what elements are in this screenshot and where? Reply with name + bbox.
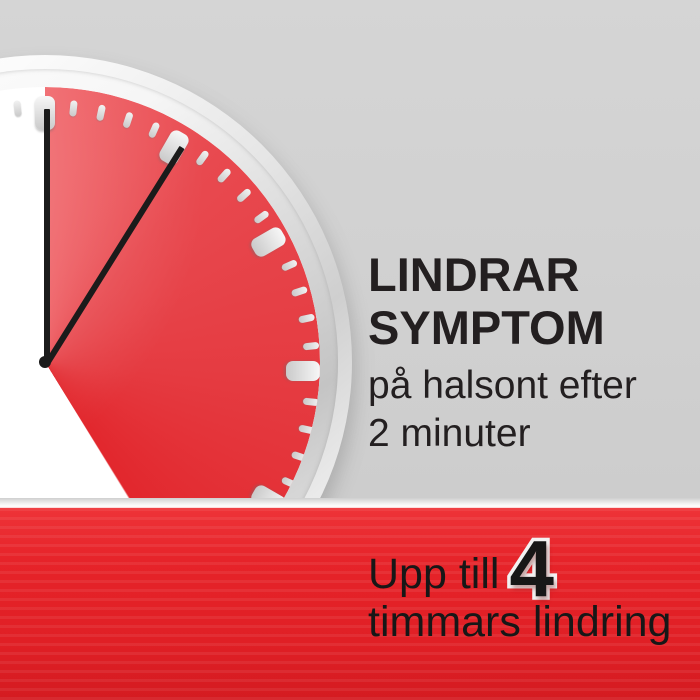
clock-tick-minor <box>235 187 252 203</box>
clock-tick-minor <box>194 149 209 166</box>
clock-tick-minor <box>298 313 315 323</box>
clock-hand-start <box>44 109 50 365</box>
clock-tick-minor <box>95 104 105 121</box>
clock-hand-pivot <box>39 356 51 368</box>
banner-prefix-label: Upp till <box>368 544 499 604</box>
clock-tick-minor <box>302 398 319 407</box>
clock-tick-minor <box>290 451 307 463</box>
clock-tick-minor <box>69 100 78 117</box>
banner-hours-number: 4 <box>509 536 554 602</box>
clock-tick-major <box>286 361 320 381</box>
promo-banner-canvas: LINDRAR SYMPTOM på halsont efter 2 minut… <box>0 0 700 700</box>
subheadline-line-1: på halsont efter <box>368 362 688 410</box>
clock-tick-minor <box>280 476 297 489</box>
clock-tick-minor <box>13 100 22 117</box>
clock-tick-major <box>249 225 288 259</box>
clock-tick-minor <box>122 111 134 128</box>
subheadline-line-2: 2 minuter <box>368 410 688 458</box>
headline-line-1: LINDRAR <box>368 248 688 301</box>
clock-tick-minor <box>147 121 160 138</box>
headline-line-2: SYMPTOM <box>368 301 688 354</box>
clock-tick-minor <box>216 167 232 184</box>
clock-tick-minor <box>302 342 319 351</box>
clock-tick-minor <box>280 259 297 272</box>
banner-line-1: Upp till 4 <box>368 528 698 594</box>
clock-tick-minor <box>298 424 315 434</box>
banner-text-block: Upp till 4 timmars lindring <box>368 528 698 648</box>
clock-tick-minor <box>252 210 269 225</box>
clock-tick-minor <box>290 286 307 298</box>
headline-block: LINDRAR SYMPTOM på halsont efter 2 minut… <box>368 248 688 458</box>
